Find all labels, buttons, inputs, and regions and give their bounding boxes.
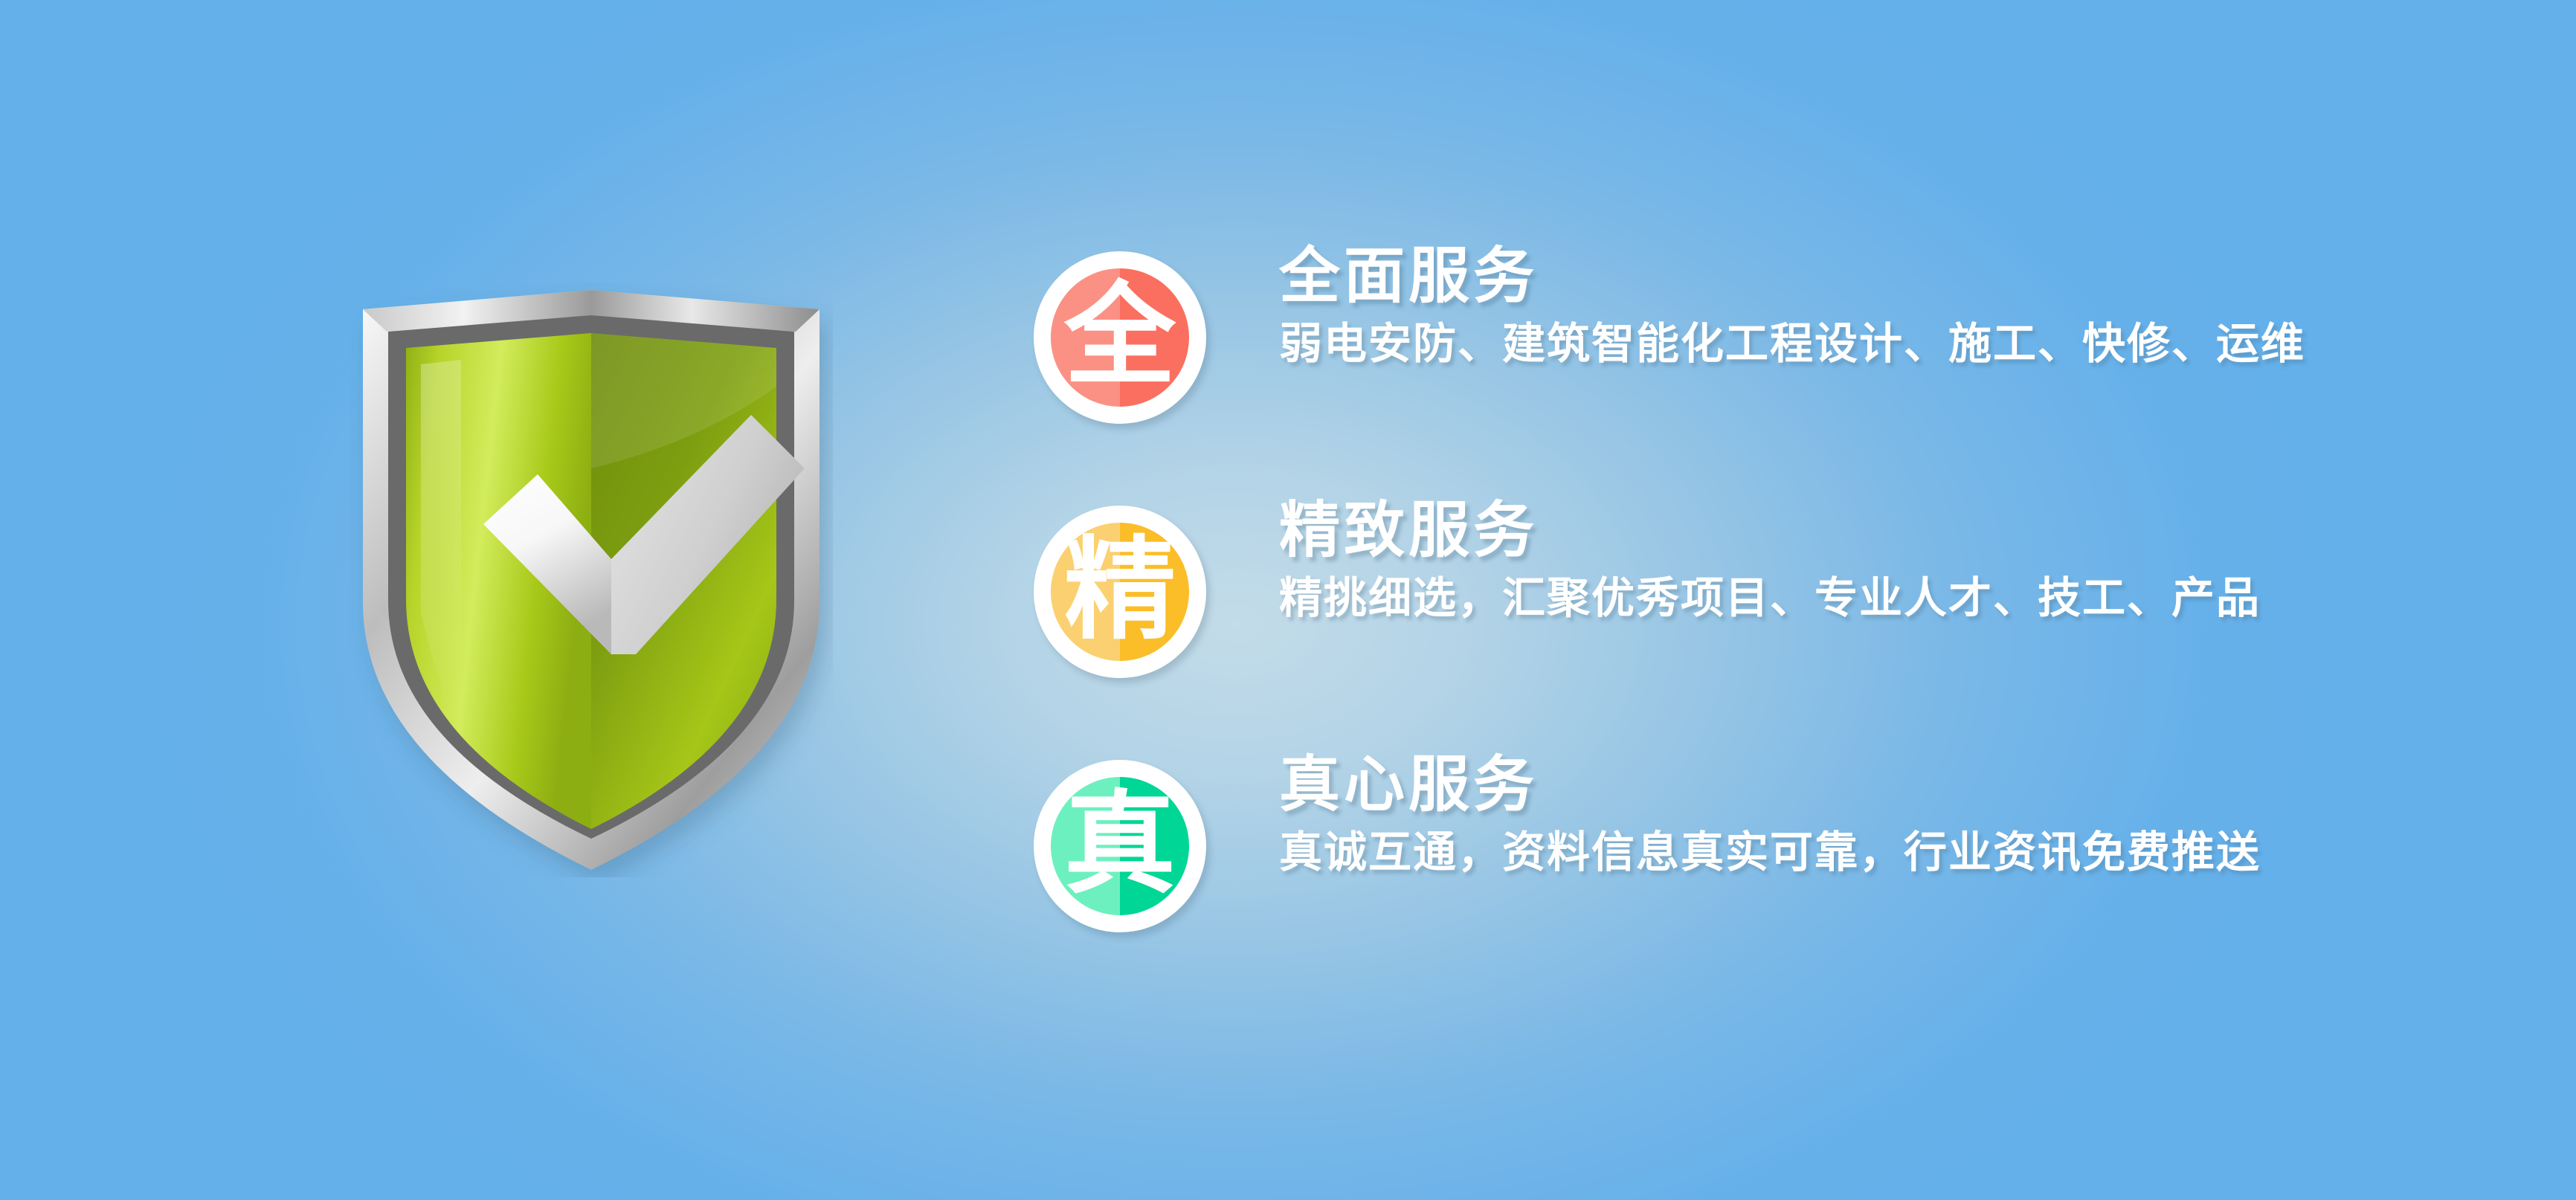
- feature-item: 精 精致服务 精挑细选，汇聚优秀项目、专业人才、技工、产品: [1034, 500, 2447, 686]
- badge-fill: 精: [1051, 523, 1189, 661]
- feature-subtitle: 精挑细选，汇聚优秀项目、专业人才、技工、产品: [1279, 574, 2439, 622]
- feature-title: 精致服务: [1279, 500, 2439, 562]
- feature-item: 全 全面服务 弱电安防、建筑智能化工程设计、施工、快修、运维: [1034, 245, 2447, 431]
- feature-list: 全 全面服务 弱电安防、建筑智能化工程设计、施工、快修、运维 精 精致服务 精挑…: [1034, 245, 2447, 940]
- feature-text: 真心服务 真诚互通，资料信息真实可靠，行业资讯免费推送: [1279, 754, 2439, 877]
- feature-text: 精致服务 精挑细选，汇聚优秀项目、专业人才、技工、产品: [1279, 500, 2439, 622]
- badge-zhen: 真: [1034, 760, 1206, 932]
- feature-title: 真心服务: [1279, 754, 2439, 816]
- feature-subtitle: 真诚互通，资料信息真实可靠，行业资讯免费推送: [1279, 828, 2439, 877]
- badge-character: 全: [1064, 280, 1176, 392]
- badge-jing: 精: [1034, 506, 1206, 678]
- feature-subtitle: 弱电安防、建筑智能化工程设计、施工、快修、运维: [1279, 320, 2439, 368]
- badge-quan: 全: [1034, 251, 1206, 424]
- shield-checkmark-icon: [350, 283, 833, 877]
- badge-character: 真: [1064, 789, 1176, 900]
- badge-character: 精: [1064, 535, 1176, 646]
- feature-text: 全面服务 弱电安防、建筑智能化工程设计、施工、快修、运维: [1279, 245, 2439, 368]
- feature-title: 全面服务: [1279, 245, 2439, 308]
- badge-fill: 全: [1051, 268, 1189, 407]
- feature-item: 真 真心服务 真诚互通，资料信息真实可靠，行业资讯免费推送: [1034, 754, 2447, 940]
- badge-fill: 真: [1051, 777, 1189, 915]
- promo-banner: 全 全面服务 弱电安防、建筑智能化工程设计、施工、快修、运维 精 精致服务 精挑…: [0, 0, 2576, 1200]
